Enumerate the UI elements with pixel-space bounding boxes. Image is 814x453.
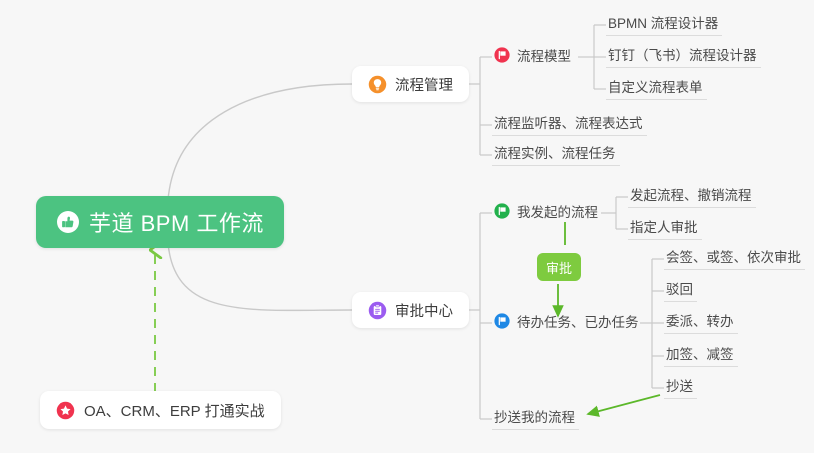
node-label: 驳回 xyxy=(666,278,693,298)
node-bpmn-designer[interactable]: BPMN 流程设计器 xyxy=(606,12,722,36)
edge-root-to-process-management xyxy=(168,84,352,200)
node-label: 会签、或签、依次审批 xyxy=(666,246,801,266)
node-label: BPMN 流程设计器 xyxy=(608,12,718,32)
node-label: 自定义流程表单 xyxy=(608,76,703,96)
flag-icon xyxy=(494,313,510,329)
root-label: 芋道 BPM 工作流 xyxy=(89,206,264,238)
node-listener-expression[interactable]: 流程监听器、流程表达式 xyxy=(492,112,647,136)
node-cc[interactable]: 抄送 xyxy=(664,375,697,399)
edge-root-to-approval-center xyxy=(168,243,352,310)
root-node[interactable]: 芋道 BPM 工作流 xyxy=(36,196,284,248)
arrow-cc-to-cc-process xyxy=(588,395,660,414)
thumbs-up-icon xyxy=(56,210,80,234)
node-custom-form[interactable]: 自定义流程表单 xyxy=(606,76,707,100)
callout-approval[interactable]: 审批 xyxy=(537,253,581,281)
node-label: 抄送我的流程 xyxy=(494,406,575,426)
node-countersign[interactable]: 会签、或签、依次审批 xyxy=(664,246,805,270)
node-label: 流程模型 xyxy=(517,45,571,65)
clipboard-icon xyxy=(368,301,387,320)
note-label: OA、CRM、ERP 打通实战 xyxy=(84,400,265,421)
node-process-model[interactable]: 流程模型 xyxy=(492,44,575,68)
flag-icon xyxy=(494,203,510,219)
node-cc-to-me[interactable]: 抄送我的流程 xyxy=(492,406,579,430)
branch-label: 流程管理 xyxy=(395,74,453,95)
node-label: 我发起的流程 xyxy=(517,201,598,221)
branch-process-management[interactable]: 流程管理 xyxy=(352,66,469,102)
node-label: 流程实例、流程任务 xyxy=(494,142,616,162)
note-integration-practice[interactable]: OA、CRM、ERP 打通实战 xyxy=(40,391,281,429)
mindmap-canvas: 芋道 BPM 工作流 流程管理 审批中心 xyxy=(0,0,814,453)
callout-label: 审批 xyxy=(546,258,572,277)
star-icon xyxy=(56,401,75,420)
node-label: 钉钉（飞书）流程设计器 xyxy=(608,44,757,64)
todo-task-edges xyxy=(640,259,664,388)
node-label: 发起流程、撤销流程 xyxy=(630,184,752,204)
node-label: 流程监听器、流程表达式 xyxy=(494,112,643,132)
node-label: 指定人审批 xyxy=(630,216,698,236)
node-my-started-process[interactable]: 我发起的流程 xyxy=(492,200,602,224)
node-label: 待办任务、已办任务 xyxy=(517,311,639,331)
process-model-edges xyxy=(578,25,606,89)
node-add-remove-sign[interactable]: 加签、减签 xyxy=(664,343,738,367)
node-assignee-approval[interactable]: 指定人审批 xyxy=(628,216,702,240)
my-started-edges xyxy=(601,197,628,229)
flag-icon xyxy=(494,47,510,63)
lightbulb-icon xyxy=(368,75,387,94)
node-todo-done-task[interactable]: 待办任务、已办任务 xyxy=(492,310,643,334)
branch-approval-center[interactable]: 审批中心 xyxy=(352,292,469,328)
node-label: 加签、减签 xyxy=(666,343,734,363)
branch-label: 审批中心 xyxy=(395,300,453,321)
node-dingtalk-designer[interactable]: 钉钉（飞书）流程设计器 xyxy=(606,44,761,68)
node-label: 委派、转办 xyxy=(666,310,734,330)
node-instance-task[interactable]: 流程实例、流程任务 xyxy=(492,142,620,166)
node-launch-cancel[interactable]: 发起流程、撤销流程 xyxy=(628,184,756,208)
node-delegate-transfer[interactable]: 委派、转办 xyxy=(664,310,738,334)
node-label: 抄送 xyxy=(666,375,693,395)
node-reject[interactable]: 驳回 xyxy=(664,278,697,302)
